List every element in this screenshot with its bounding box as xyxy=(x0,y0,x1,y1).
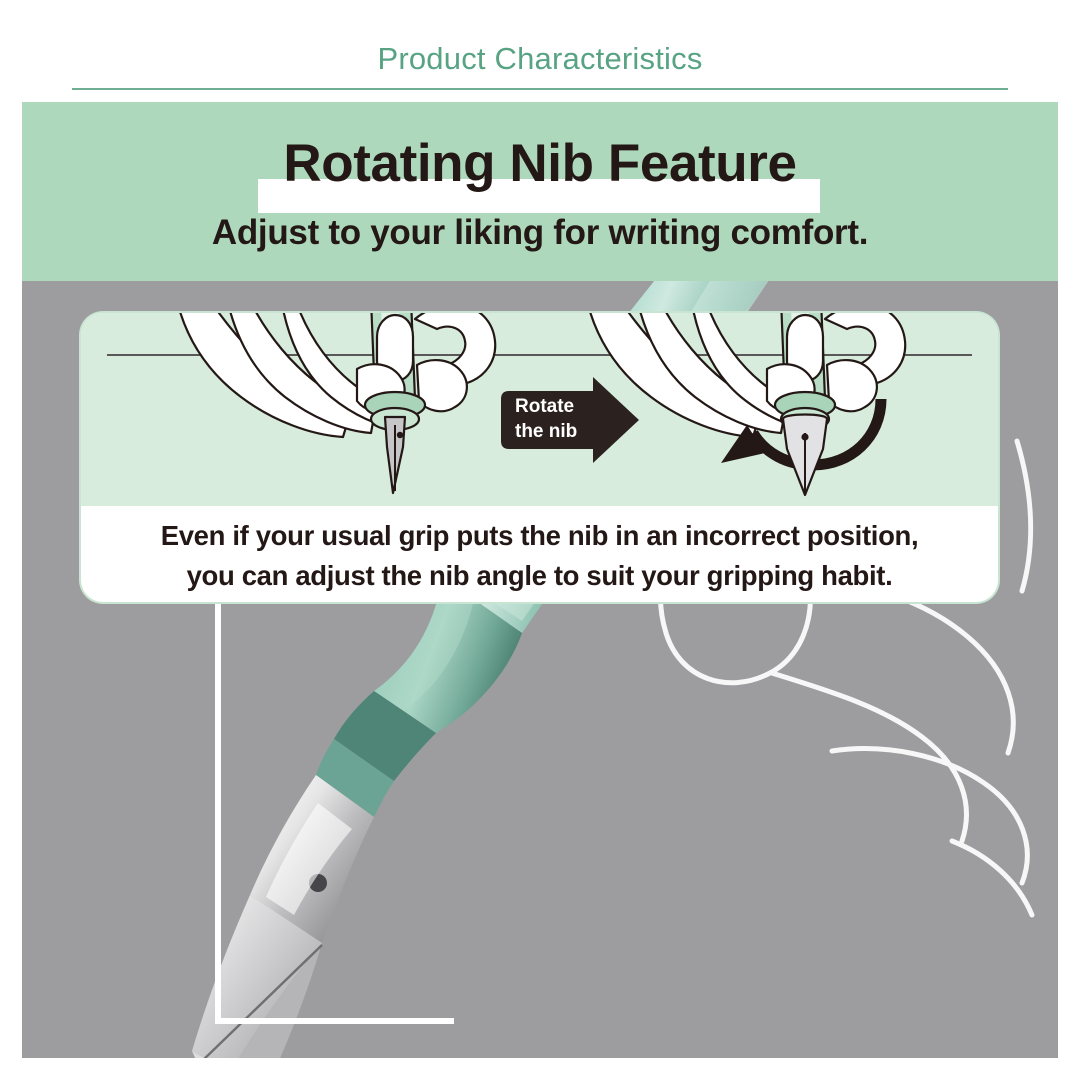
page-title: Product Characteristics xyxy=(0,40,1080,78)
caption-line-2: you can adjust the nib angle to suit you… xyxy=(187,556,893,596)
feature-banner: Rotating Nib Feature Adjust to your liki… xyxy=(22,102,1058,281)
rotate-arrow: Rotate the nib xyxy=(493,377,641,463)
content-canvas: Rotating Nib Feature Adjust to your liki… xyxy=(22,102,1058,1058)
step-illustration-panel: Rotate the nib xyxy=(81,313,998,506)
explainer-card: Rotate the nib Even if your usual grip p… xyxy=(81,313,998,602)
caption-line-1: Even if your usual grip puts the nib in … xyxy=(161,516,919,556)
rotate-arrow-line2: the nib xyxy=(515,419,601,444)
header-divider xyxy=(72,88,1008,90)
page-header: Product Characteristics xyxy=(0,0,1080,100)
feature-subtitle: Adjust to your liking for writing comfor… xyxy=(22,210,1058,256)
explainer-caption: Even if your usual grip puts the nib in … xyxy=(81,509,998,602)
rotate-arrow-line1: Rotate xyxy=(515,394,601,419)
infographic-page: Product Characteristics xyxy=(0,0,1080,1080)
feature-title: Rotating Nib Feature xyxy=(22,124,1058,204)
rotate-arrow-text: Rotate the nib xyxy=(515,394,601,444)
banner-title-wrap: Rotating Nib Feature xyxy=(22,124,1058,204)
